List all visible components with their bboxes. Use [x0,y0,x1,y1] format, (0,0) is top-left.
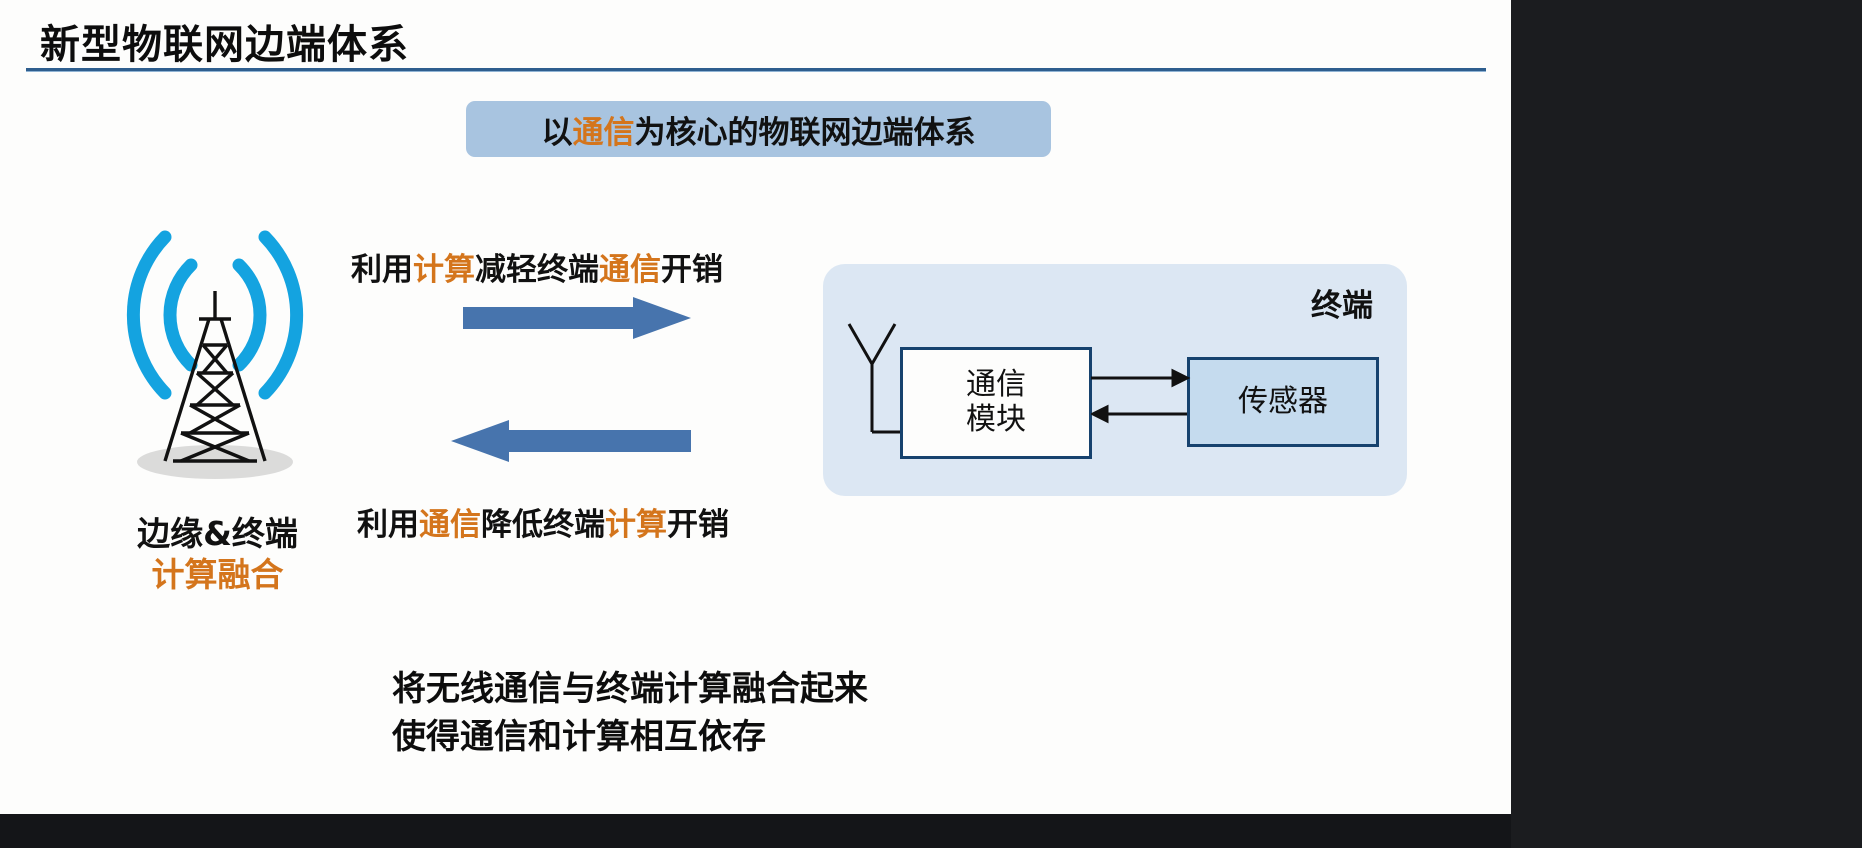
banner-text: 以通信为核心的物联网边端体系 [542,107,976,152]
banner-highlight: 通信 [573,115,635,151]
arrow-right-icon [463,297,691,339]
banner-callout: 以通信为核心的物联网边端体系 [466,101,1051,157]
left-caption-line1: 边缘&终端 [95,513,340,554]
tower-svg [95,215,335,505]
sensor-box-label: 传感器 [1238,385,1328,420]
arrow-left-icon [451,420,691,462]
comm-box-line2: 模块 [966,403,1026,438]
antenna-icon [843,320,901,462]
caption-top-h1: 计算 [413,252,475,288]
communication-module-box: 通信 模块 [900,347,1092,459]
caption-bottom-p1: 利用 [357,507,419,543]
participant-rail: 正在讲话: 鲁力 电子科技... [1511,0,1862,848]
banner-suffix: 为核心的物联网边端体系 [635,115,976,151]
shared-slide: 新型物联网边端体系 以通信为核心的物联网边端体系 [0,0,1511,848]
summary-line2: 使得通信和计算相互依存 [392,713,868,761]
sensor-box: 传感器 [1187,357,1379,447]
left-caption: 边缘&终端 计算融合 [95,513,340,596]
caption-top-h2: 通信 [599,252,661,288]
caption-top-p2: 减轻终端 [475,252,599,288]
terminal-panel: 终端 通信 模块 [823,264,1407,496]
terminal-panel-label: 终端 [1311,280,1373,325]
caption-bottom-p3: 开销 [667,507,729,543]
caption-top: 利用计算减轻终端通信开销 [351,244,723,289]
screen-share-window: 新型物联网边端体系 以通信为核心的物联网边端体系 [0,0,1862,848]
caption-top-p1: 利用 [351,252,413,288]
cell-tower-graphic [95,215,335,505]
bidirectional-connector-icon [1091,362,1191,442]
caption-bottom-h2: 计算 [605,507,667,543]
caption-top-p3: 开销 [661,252,723,288]
slide-title: 新型物联网边端体系 [40,12,409,70]
caption-bottom-p2: 降低终端 [481,507,605,543]
left-caption-line2: 计算融合 [95,554,340,595]
comm-box-line1: 通信 [966,368,1026,403]
slide-bottom-letterbox [0,814,1511,848]
summary-text: 将无线通信与终端计算融合起来 使得通信和计算相互依存 [392,665,868,762]
banner-prefix: 以 [542,115,573,151]
title-divider [26,68,1486,72]
caption-bottom: 利用通信降低终端计算开销 [357,499,729,544]
summary-line1: 将无线通信与终端计算融合起来 [392,665,868,713]
caption-bottom-h1: 通信 [419,507,481,543]
